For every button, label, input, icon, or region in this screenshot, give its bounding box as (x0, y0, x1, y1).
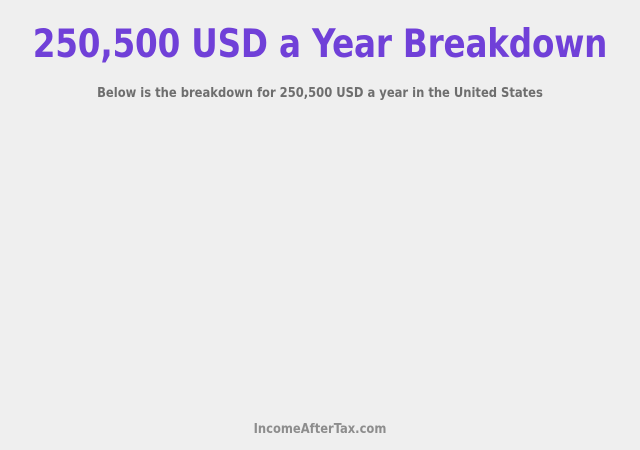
chart-plot-area (0, 112, 640, 407)
breakdown-page: 250,500 USD a Year Breakdown Below is th… (0, 0, 640, 450)
page-title: 250,500 USD a Year Breakdown (22, 22, 617, 68)
site-watermark: IncomeAfterTax.com (16, 421, 624, 438)
page-subtitle: Below is the breakdown for 250,500 USD a… (16, 85, 624, 102)
